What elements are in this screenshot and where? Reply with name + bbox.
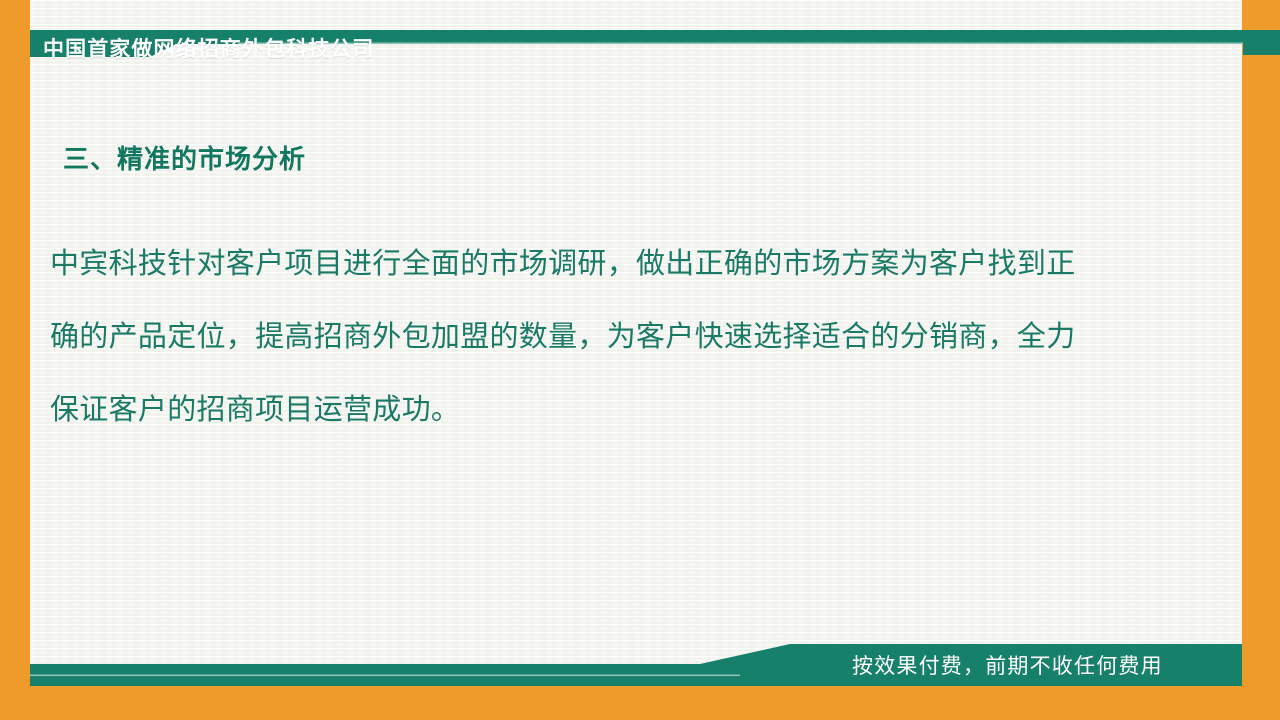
footer-orange-base — [0, 686, 1280, 720]
paragraph-line: 确的产品定位，提高招商外包加盟的数量，为客户快速选择适合的分销商，全力 — [50, 301, 1185, 374]
paragraph-line: 保证客户的招商项目运营成功。 — [50, 374, 1185, 447]
paragraph-line: 中宾科技针对客户项目进行全面的市场调研，做出正确的市场方案为客户找到正 — [50, 228, 1185, 301]
header-title: 中国首家做网络招商外包科技公司 — [43, 34, 375, 66]
footer-right-rail — [1242, 630, 1280, 720]
footer-tagline: 按效果付费，前期不收任何费用 — [852, 650, 1163, 680]
footer-left-rail — [0, 630, 30, 720]
slide-frame: 中国首家做网络招商外包科技公司 三、精准的市场分析 中宾科技针对客户项目进行全面… — [0, 0, 1280, 720]
section-heading: 三、精准的市场分析 — [63, 139, 306, 176]
body-paragraph: 中宾科技针对客户项目进行全面的市场调研，做出正确的市场方案为客户找到正 确的产品… — [50, 228, 1185, 447]
